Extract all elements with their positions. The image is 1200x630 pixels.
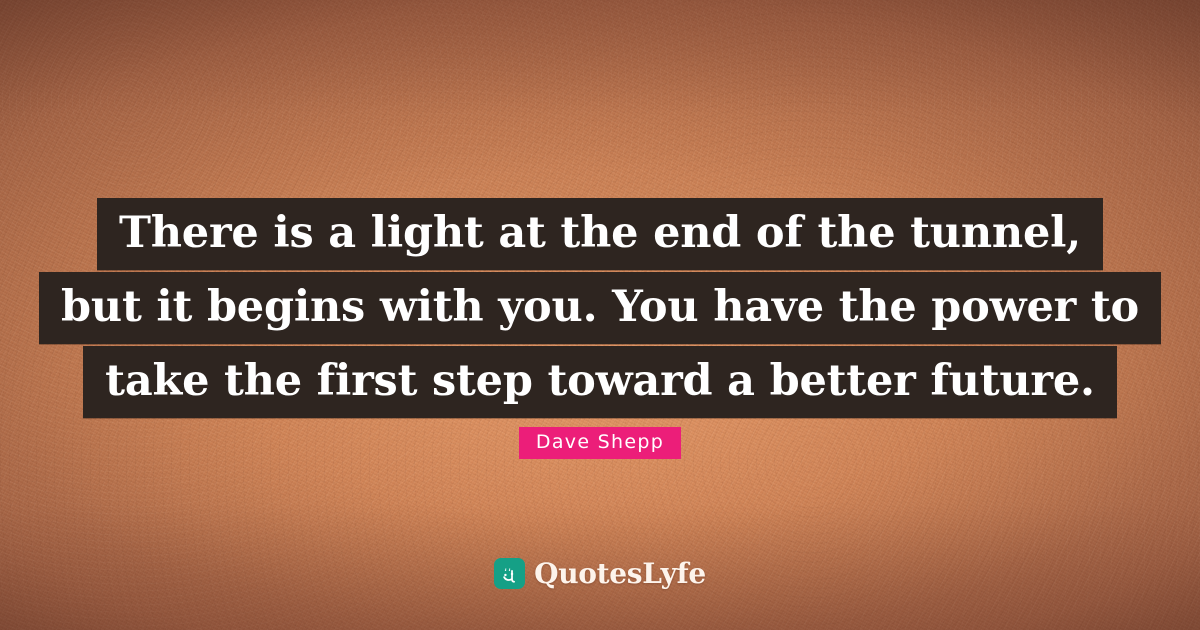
quote-text-block: There is a light at the end of the tunne… [0,198,1200,418]
brand-wordmark: QuotesLyfe [534,560,706,588]
quote-line-3: take the first step toward a better futu… [83,346,1117,418]
quote-line-2: but it begins with you. You have the pow… [39,272,1161,344]
brand-footer: QuotesLyfe [0,558,1200,589]
quote-smiley-icon [494,558,525,589]
attribution-row: Dave Shepp [0,427,1200,459]
quote-author: Dave Shepp [519,427,681,459]
quote-card: There is a light at the end of the tunne… [0,0,1200,630]
quote-line-1: There is a light at the end of the tunne… [97,198,1103,270]
